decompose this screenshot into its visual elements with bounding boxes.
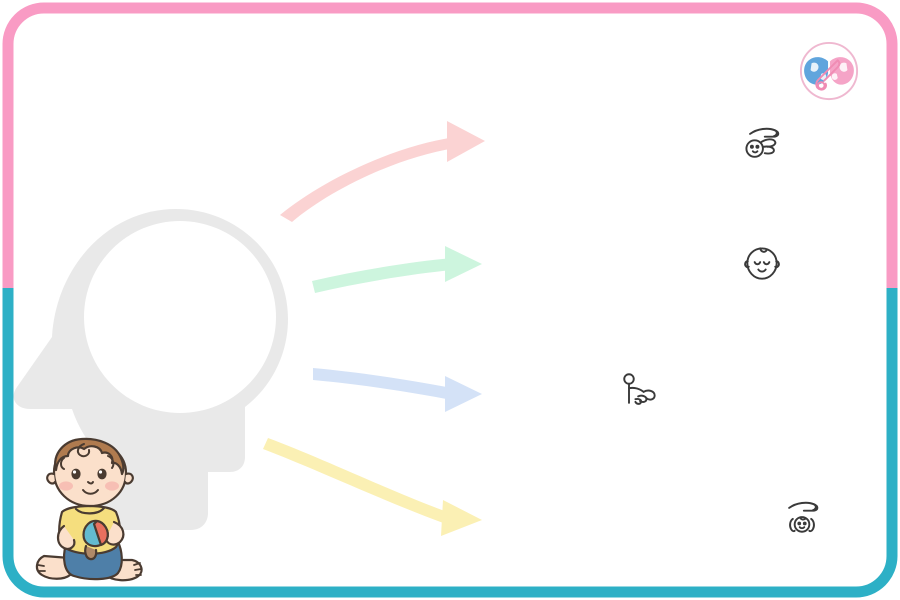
diaper-change-hand-icon xyxy=(740,122,784,166)
list-item[interactable] xyxy=(780,496,842,540)
infographic-canvas xyxy=(0,0,900,600)
arrow-blue xyxy=(313,368,482,412)
baby-face-icon xyxy=(740,242,784,286)
list-item[interactable] xyxy=(618,368,680,412)
hand-over-baby-head-icon xyxy=(780,496,824,540)
sitting-baby-with-rattle-illustration xyxy=(14,434,164,594)
arrow-pink xyxy=(280,121,485,222)
arrow-yellow xyxy=(263,438,482,536)
list-item[interactable] xyxy=(740,122,802,166)
list-item[interactable] xyxy=(740,242,802,286)
arrow-green xyxy=(312,246,482,293)
baby-massage-icon xyxy=(618,368,662,412)
